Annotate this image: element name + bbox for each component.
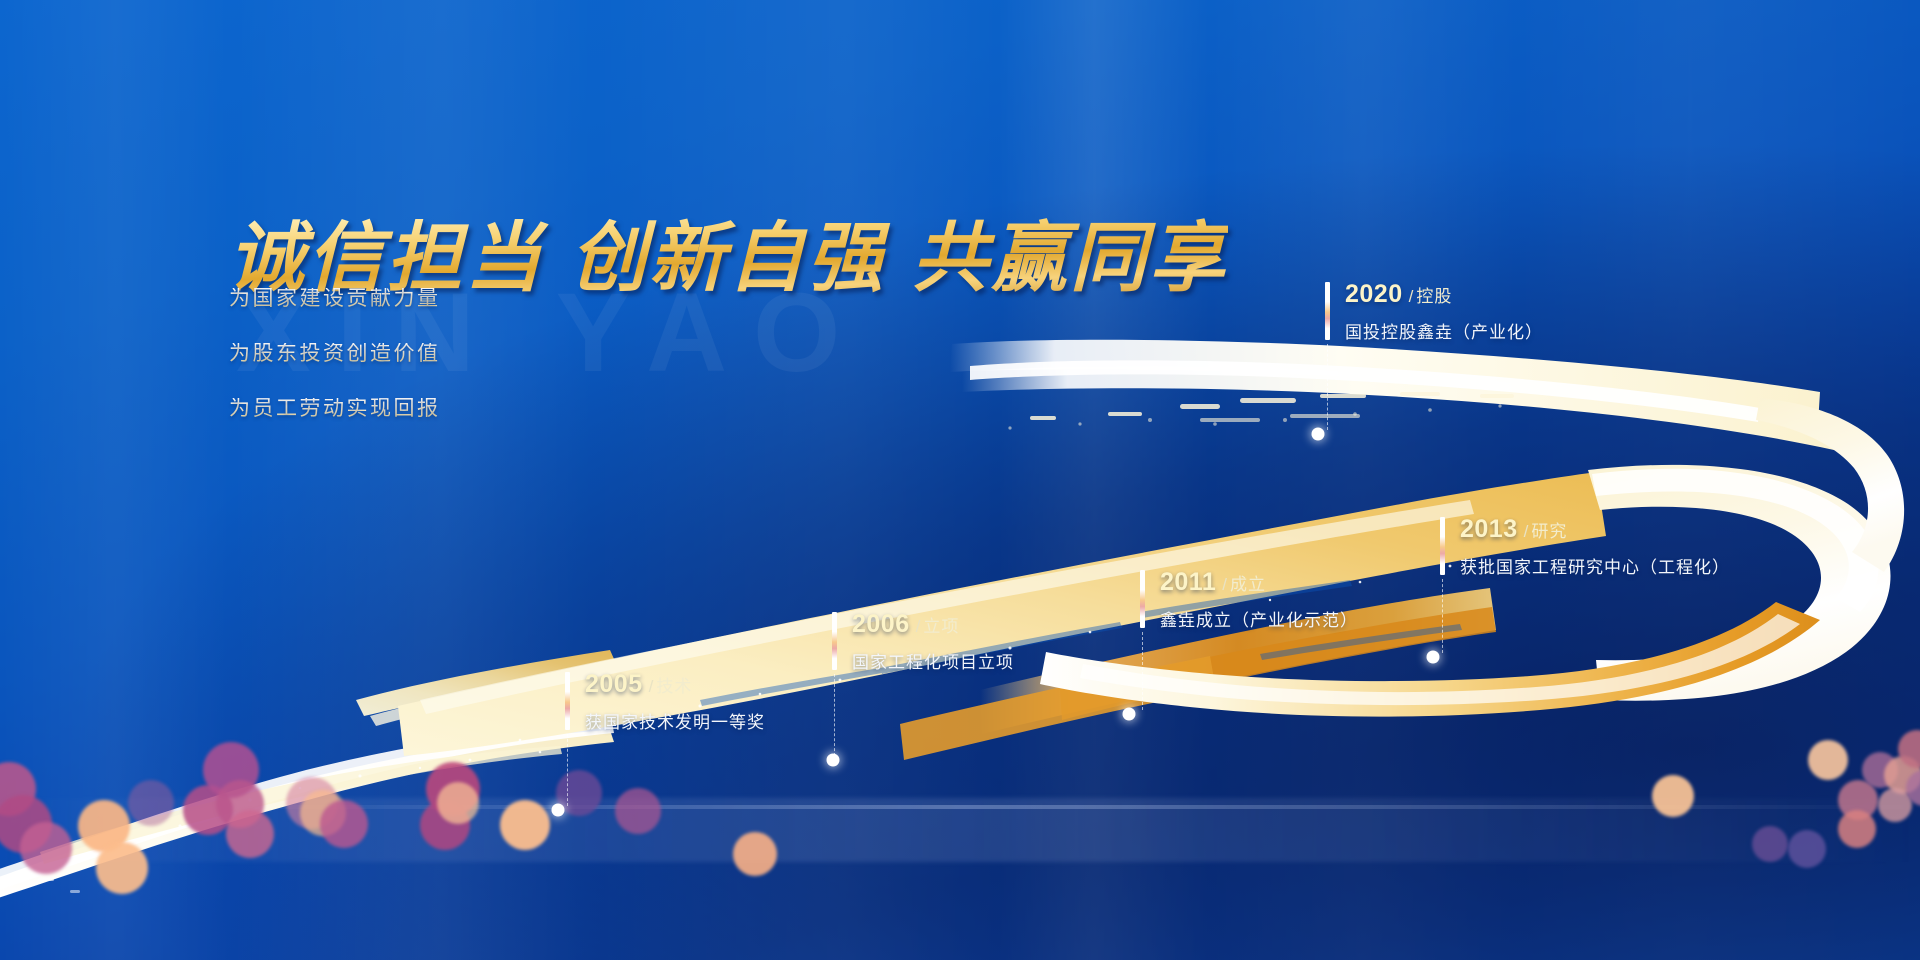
bokeh-circle	[615, 788, 661, 834]
milestone-heading: 2006/立项	[852, 610, 1014, 639]
milestone-accent-bar	[1325, 282, 1330, 340]
milestone-separator: /	[916, 617, 921, 636]
bokeh-circle	[1808, 740, 1848, 780]
milestone-text: 2006/立项国家工程化项目立项	[852, 610, 1014, 673]
milestone-description: 鑫垚成立（产业化示范）	[1160, 606, 1358, 631]
milestone-tag: 研究	[1531, 522, 1567, 541]
milestone-heading: 2011/成立	[1160, 568, 1358, 597]
milestone-dot[interactable]	[1427, 651, 1440, 664]
milestone-description: 国投控股鑫垚（产业化）	[1345, 318, 1543, 343]
milestone-description: 国家工程化项目立项	[852, 648, 1014, 673]
bokeh-circle	[1838, 810, 1876, 848]
milestone-tag: 控股	[1416, 287, 1452, 306]
bokeh-circle	[128, 780, 174, 826]
bokeh-circle	[500, 800, 550, 850]
slogan-item: 为股东投资创造价值	[229, 343, 441, 364]
milestone-separator: /	[649, 677, 654, 696]
milestone-text: 2011/成立鑫垚成立（产业化示范）	[1160, 568, 1358, 631]
milestone-text: 2005/技术获国家技术发明一等奖	[585, 670, 765, 733]
milestone-accent-bar	[832, 612, 837, 670]
milestone-dot[interactable]	[1123, 708, 1136, 721]
milestone-year: 2020	[1345, 280, 1403, 309]
milestone-description: 获国家技术发明一等奖	[585, 708, 765, 733]
milestone-tag: 立项	[923, 617, 959, 636]
milestone-heading: 2013/研究	[1460, 515, 1730, 544]
slogan-item: 为国家建设贡献力量	[229, 288, 441, 309]
bokeh-circle	[320, 800, 368, 848]
milestone-heading: 2020/控股	[1345, 280, 1543, 309]
milestone-text: 2020/控股国投控股鑫垚（产业化）	[1345, 280, 1543, 343]
milestone-separator: /	[1222, 575, 1227, 594]
slogan-list: 为国家建设贡献力量 为股东投资创造价值 为员工劳动实现回报	[229, 288, 441, 453]
milestone-heading: 2005/技术	[585, 670, 765, 699]
banner-stage: XIN YAO	[0, 0, 1920, 960]
milestone-separator: /	[1409, 287, 1414, 306]
bokeh-circle	[96, 842, 148, 894]
bokeh-circle	[1788, 830, 1826, 868]
milestone-description: 获批国家工程研究中心（工程化）	[1460, 553, 1730, 578]
slogan-item: 为员工劳动实现回报	[229, 398, 441, 419]
milestone-separator: /	[1524, 522, 1529, 541]
milestone-dot[interactable]	[827, 754, 840, 767]
milestone-connector-line	[1442, 579, 1443, 653]
milestone-connector-line	[567, 734, 568, 806]
milestone-accent-bar	[1140, 570, 1145, 628]
milestone-year: 2006	[852, 610, 910, 639]
milestone-year: 2005	[585, 670, 643, 699]
milestone-tag: 成立	[1230, 575, 1266, 594]
milestone-year: 2011	[1160, 568, 1216, 597]
bokeh-circle	[20, 822, 72, 874]
milestone-connector-line	[1327, 344, 1328, 430]
headline-part-3: 共赢同享	[912, 216, 1228, 301]
bokeh-circle	[1752, 826, 1788, 862]
milestone-year: 2013	[1460, 515, 1518, 544]
headline-part-2: 创新自强	[570, 216, 886, 301]
bokeh-circle	[733, 832, 777, 876]
bokeh-circle	[226, 810, 274, 858]
milestone-accent-bar	[565, 672, 570, 730]
milestone-accent-bar	[1440, 517, 1445, 575]
milestone-connector-line	[834, 674, 835, 756]
milestone-dot[interactable]	[552, 804, 565, 817]
milestone-connector-line	[1142, 632, 1143, 710]
milestone-text: 2013/研究获批国家工程研究中心（工程化）	[1460, 515, 1730, 578]
bokeh-circle	[437, 782, 479, 824]
milestone-dot[interactable]	[1312, 428, 1325, 441]
brush-stroke-ribbon	[0, 0, 1920, 960]
bokeh-circle	[1652, 775, 1694, 817]
milestone-tag: 技术	[656, 677, 692, 696]
